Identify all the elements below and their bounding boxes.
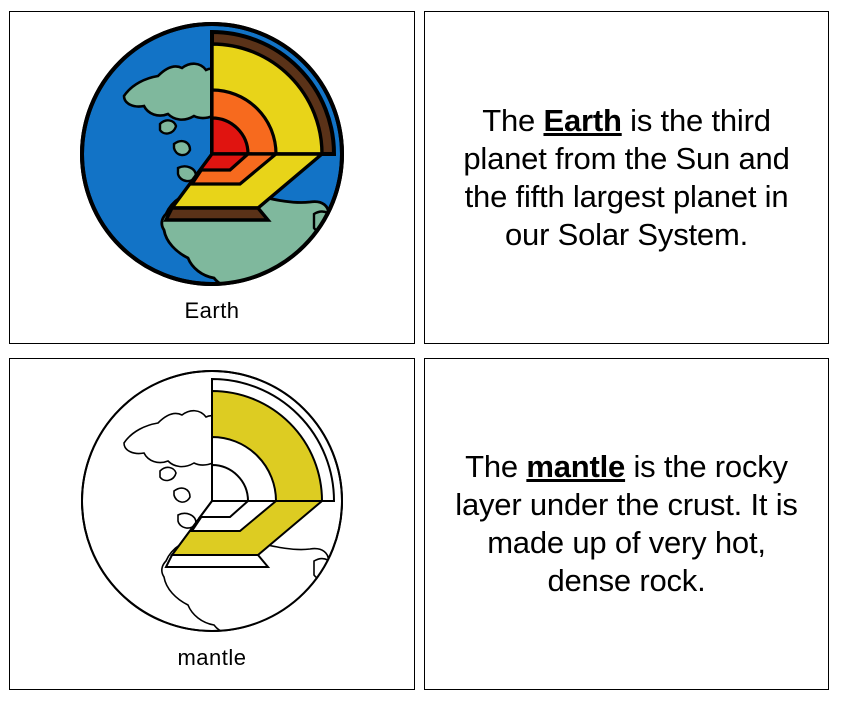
earth-cutaway-color-diagram bbox=[62, 18, 362, 296]
landmass-east-b bbox=[306, 245, 324, 261]
text-card-body: The mantle is the rocky layer under the … bbox=[425, 359, 828, 689]
landmass-island-b bbox=[174, 488, 190, 502]
landmass-island-a bbox=[160, 467, 176, 480]
text-card-body: The Earth is the third planet from the S… bbox=[425, 12, 828, 343]
picture-card-label: Earth bbox=[184, 300, 239, 322]
definition-keyword: mantle bbox=[526, 449, 625, 484]
picture-card-label: mantle bbox=[177, 647, 246, 669]
definition-keyword: Earth bbox=[543, 103, 621, 138]
landmass-island-b bbox=[174, 141, 190, 155]
earth-cutaway-mantle-highlight-diagram bbox=[62, 365, 362, 643]
wedge-rim-crust bbox=[166, 555, 268, 567]
earth-definition-card[interactable]: The Earth is the third planet from the S… bbox=[424, 11, 829, 344]
definition-text: The mantle is the rocky layer under the … bbox=[451, 448, 802, 600]
definition-text-before: The bbox=[482, 103, 543, 138]
earth-picture-card[interactable]: Earth bbox=[9, 11, 415, 344]
mantle-picture-card[interactable]: mantle bbox=[9, 358, 415, 690]
definition-text: The Earth is the third planet from the S… bbox=[451, 102, 802, 254]
picture-card-body: Earth bbox=[10, 12, 414, 343]
nomenclature-card-sheet: Earth The Earth is the third planet from… bbox=[0, 0, 847, 705]
landmass-east-b bbox=[306, 592, 324, 608]
mantle-definition-card[interactable]: The mantle is the rocky layer under the … bbox=[424, 358, 829, 690]
wedge-rim-crust bbox=[166, 208, 268, 220]
landmass-island-a bbox=[160, 120, 176, 133]
picture-card-body: mantle bbox=[10, 359, 414, 689]
definition-text-before: The bbox=[465, 449, 526, 484]
